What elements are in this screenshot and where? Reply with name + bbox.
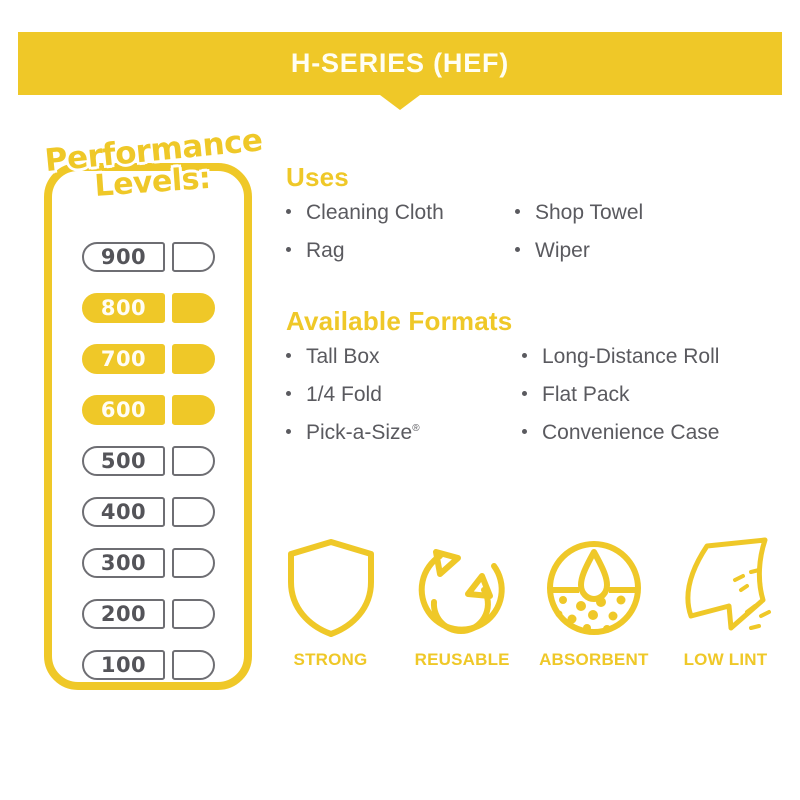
performance-level-pill-right xyxy=(172,548,215,578)
list-item-label: Convenience Case xyxy=(542,421,719,445)
registered-trademark-mark: ® xyxy=(412,423,419,434)
performance-level-row[interactable]: 800 xyxy=(44,282,252,333)
performance-level-value: 700 xyxy=(101,347,146,371)
bullet-dot-icon xyxy=(286,247,291,252)
performance-level-value: 400 xyxy=(101,500,146,524)
product-spec-infographic: H-SERIES (HEF) Performance Levels: 90080… xyxy=(0,0,800,800)
performance-level-value: 300 xyxy=(101,551,146,575)
list-item: Pick-a-Size® xyxy=(286,421,522,459)
performance-level-row[interactable]: 600 xyxy=(44,384,252,435)
uses-section: Uses Cleaning ClothShop TowelRagWiper xyxy=(286,162,786,277)
performance-level-pill-right xyxy=(172,293,215,323)
performance-level-pill-left: 600 xyxy=(82,395,165,425)
performance-level-value: 600 xyxy=(101,398,146,422)
shield-icon xyxy=(283,532,379,644)
uses-heading: Uses xyxy=(286,162,786,193)
page-title: H-SERIES (HEF) xyxy=(291,48,509,79)
list-item-label: Rag xyxy=(306,239,345,263)
bullet-dot-icon xyxy=(286,429,291,434)
bullet-dot-icon xyxy=(515,247,520,252)
performance-level-pill-right xyxy=(172,599,215,629)
list-item: Shop Towel xyxy=(515,201,786,239)
available-formats-section: Available Formats Tall BoxLong-Distance … xyxy=(286,306,786,459)
performance-level-value: 800 xyxy=(101,296,146,320)
list-item-label: Pick-a-Size® xyxy=(306,421,420,445)
feature-reusable: REUSABLE xyxy=(400,532,525,670)
list-item: Wiper xyxy=(515,239,786,277)
performance-level-value: 500 xyxy=(101,449,146,473)
feature-low-lint: LOW LINT xyxy=(663,532,788,670)
bullet-dot-icon xyxy=(522,391,527,396)
performance-level-row[interactable]: 500 xyxy=(44,435,252,486)
performance-level-row[interactable]: 300 xyxy=(44,537,252,588)
feature-label: LOW LINT xyxy=(684,650,768,670)
performance-level-pill-right xyxy=(172,395,215,425)
feature-label: STRONG xyxy=(294,650,368,670)
bullet-dot-icon xyxy=(515,209,520,214)
performance-level-pill-left: 900 xyxy=(82,242,165,272)
performance-level-pill-left: 300 xyxy=(82,548,165,578)
performance-level-row[interactable]: 900 xyxy=(44,231,252,282)
droplet-absorb-icon xyxy=(543,532,645,644)
performance-level-value: 100 xyxy=(101,653,146,677)
performance-level-value: 900 xyxy=(101,245,146,269)
list-item: Convenience Case xyxy=(522,421,786,459)
feature-badges: STRONG REUSABLE xyxy=(268,532,788,670)
bullet-dot-icon xyxy=(286,391,291,396)
performance-level-pill-right xyxy=(172,446,215,476)
bullet-dot-icon xyxy=(522,429,527,434)
banner-notch-triangle xyxy=(380,95,420,110)
performance-level-row[interactable]: 400 xyxy=(44,486,252,537)
list-item-label: Tall Box xyxy=(306,345,380,369)
performance-level-row[interactable]: 100 xyxy=(44,639,252,690)
list-item-label: Flat Pack xyxy=(542,383,630,407)
recycle-loop-icon xyxy=(410,532,514,644)
available-formats-list: Tall BoxLong-Distance Roll1/4 FoldFlat P… xyxy=(286,345,786,459)
feature-label: REUSABLE xyxy=(415,650,510,670)
performance-level-pill-right xyxy=(172,497,215,527)
cloth-lint-icon xyxy=(673,532,777,644)
bullet-dot-icon xyxy=(286,209,291,214)
performance-level-pill-right xyxy=(172,242,215,272)
list-item-label: Wiper xyxy=(535,239,590,263)
list-item-label: Long-Distance Roll xyxy=(542,345,719,369)
bullet-dot-icon xyxy=(286,353,291,358)
performance-level-pill-left: 700 xyxy=(82,344,165,374)
feature-label: ABSORBENT xyxy=(539,650,648,670)
feature-strong: STRONG xyxy=(268,532,393,670)
available-formats-heading: Available Formats xyxy=(286,306,786,337)
performance-level-row[interactable]: 700 xyxy=(44,333,252,384)
list-item-label: Shop Towel xyxy=(535,201,643,225)
performance-level-value: 200 xyxy=(101,602,146,626)
list-item: 1/4 Fold xyxy=(286,383,522,421)
performance-level-pill-left: 800 xyxy=(82,293,165,323)
performance-level-pill-left: 200 xyxy=(82,599,165,629)
list-item-label: Cleaning Cloth xyxy=(306,201,444,225)
performance-level-pill-left: 400 xyxy=(82,497,165,527)
performance-level-pill-left: 100 xyxy=(82,650,165,680)
performance-level-pill-left: 500 xyxy=(82,446,165,476)
uses-list: Cleaning ClothShop TowelRagWiper xyxy=(286,201,786,277)
bullet-dot-icon xyxy=(522,353,527,358)
list-item: Flat Pack xyxy=(522,383,786,421)
performance-levels-list: 900800700600500400300200100 xyxy=(44,231,252,690)
header-banner: H-SERIES (HEF) xyxy=(18,32,782,95)
list-item-label: 1/4 Fold xyxy=(306,383,382,407)
list-item: Tall Box xyxy=(286,345,522,383)
performance-level-row[interactable]: 200 xyxy=(44,588,252,639)
feature-absorbent: ABSORBENT xyxy=(531,532,656,670)
list-item: Long-Distance Roll xyxy=(522,345,786,383)
performance-level-pill-right xyxy=(172,650,215,680)
list-item: Rag xyxy=(286,239,515,277)
list-item: Cleaning Cloth xyxy=(286,201,515,239)
performance-level-pill-right xyxy=(172,344,215,374)
